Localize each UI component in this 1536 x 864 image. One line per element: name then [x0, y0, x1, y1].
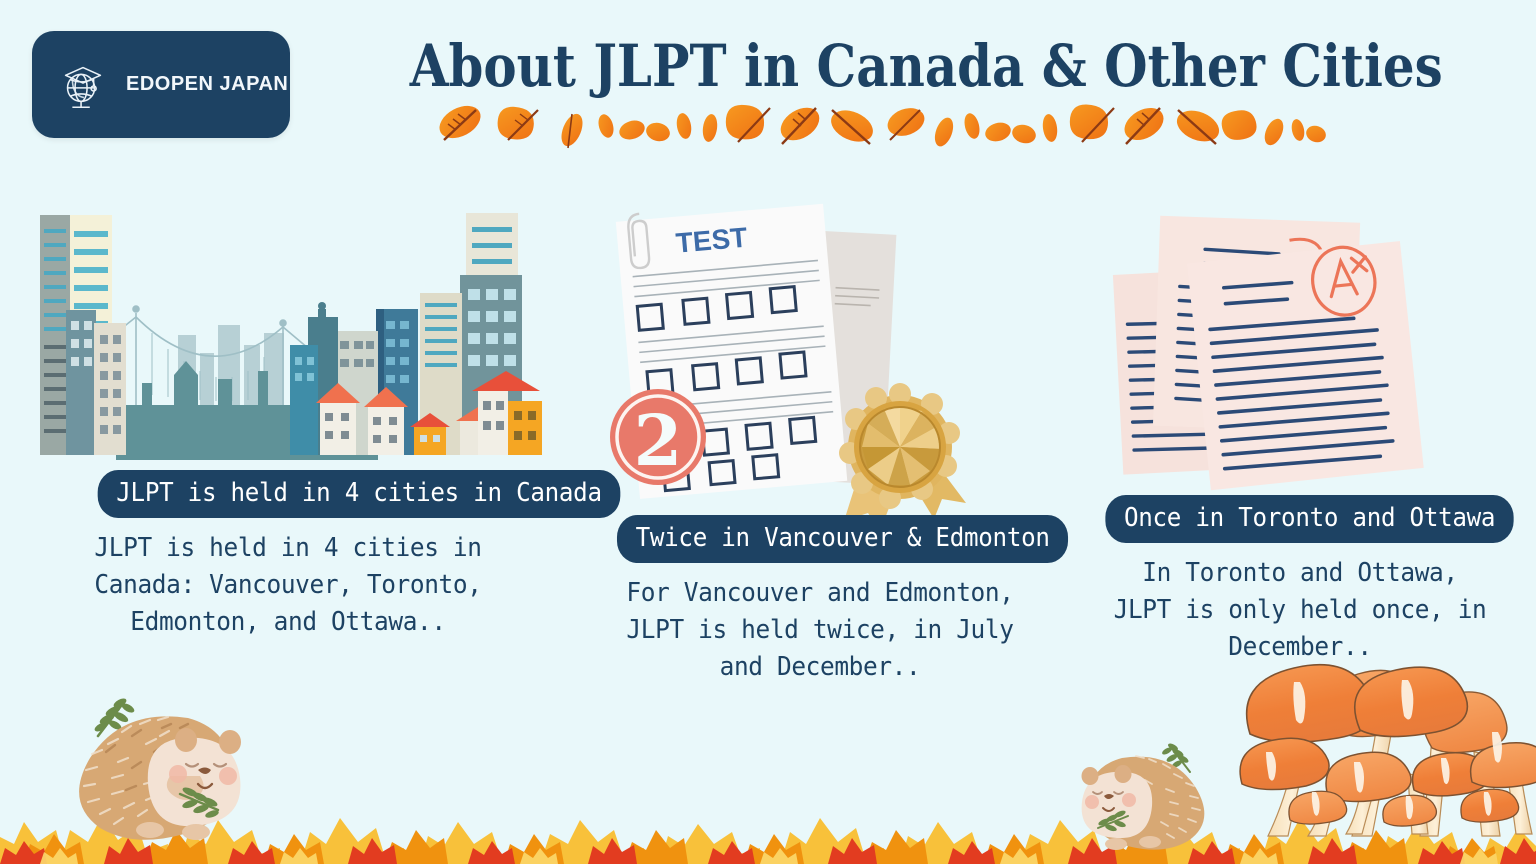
mushroom-cluster-illustration [1236, 656, 1536, 846]
hedgehog-illustration [62, 692, 292, 842]
badge-twice: Twice in Vancouver & Edmonton [617, 515, 1068, 563]
body-text-once: In Toronto and Ottawa, JLPT is only held… [1103, 555, 1498, 666]
column-cities: JLPT is held in 4 cities in Canada JLPT … [28, 205, 548, 641]
badge-cities: JLPT is held in 4 cities in Canada [98, 470, 621, 518]
globe-graduation-cap-icon [54, 56, 112, 114]
brand-logo-badge[interactable]: EDOPEN JAPAN [32, 31, 290, 138]
body-text-cities: JLPT is held in 4 cities in Canada: Vanc… [44, 530, 533, 641]
badge-once: Once in Toronto and Ottawa [1105, 495, 1513, 543]
column-twice: TEST [600, 195, 1040, 686]
city-skyline-illustration [28, 205, 548, 470]
test-paper-label: TEST [675, 222, 749, 259]
count-badge-2: 2 [610, 389, 706, 485]
test-paper-with-medal-illustration: TEST [600, 195, 1040, 515]
svg-text:2: 2 [634, 399, 683, 482]
page-title: About JLPT in Canada & Other Cities [410, 36, 1390, 97]
hedgehog-illustration [1048, 738, 1218, 850]
graded-exam-papers-illustration [1090, 210, 1510, 495]
body-text-twice: For Vancouver and Edmonton, JLPT is held… [613, 575, 1027, 686]
autumn-leaves-decoration [420, 100, 1320, 162]
column-once: Once in Toronto and Ottawa In Toronto an… [1090, 210, 1510, 666]
brand-name-label: EDOPEN JAPAN [126, 73, 288, 96]
